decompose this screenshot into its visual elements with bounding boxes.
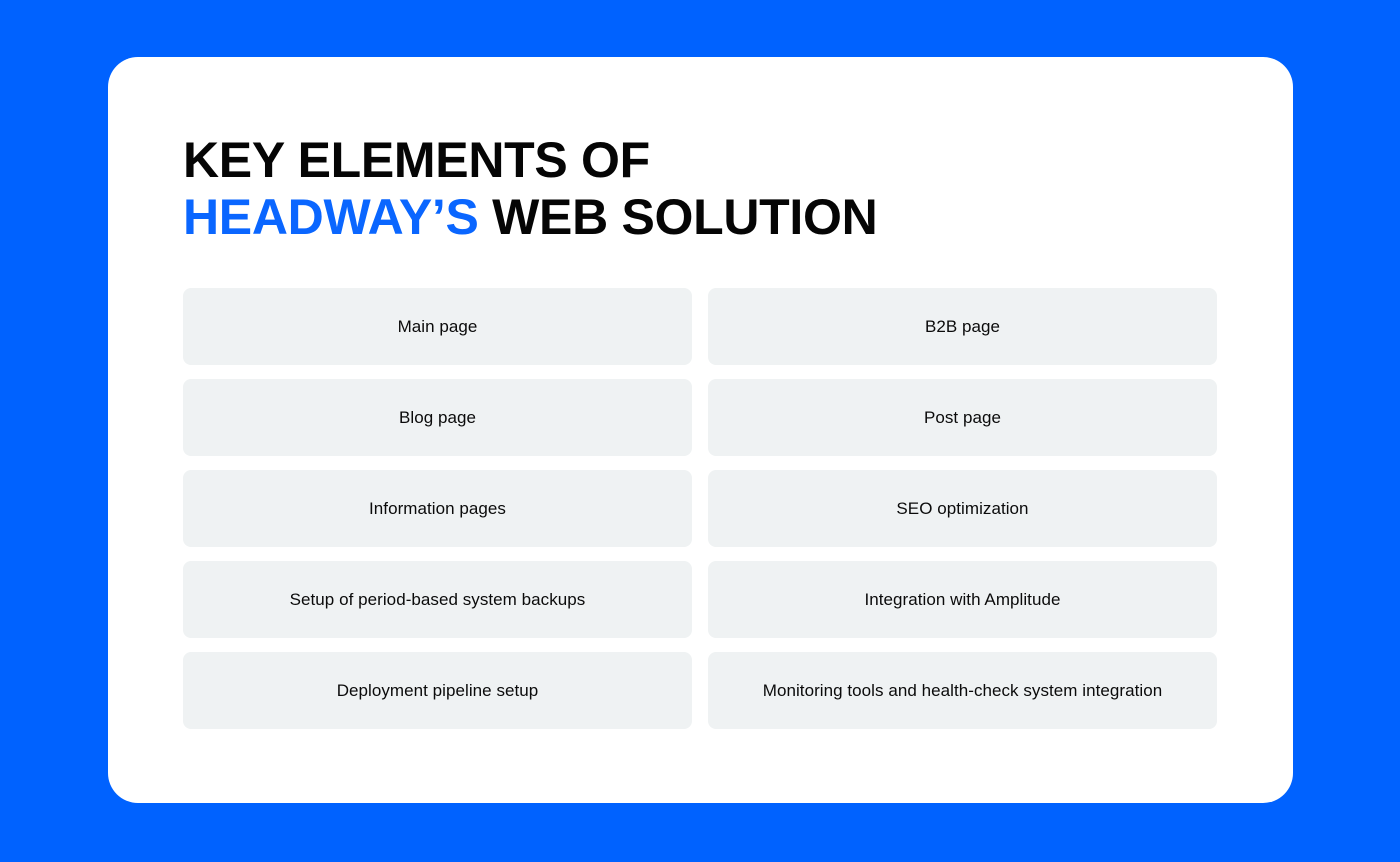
grid-item[interactable]: Integration with Amplitude <box>708 561 1217 638</box>
grid-item-label: Post page <box>924 407 1001 429</box>
grid-item-label: Blog page <box>399 407 476 429</box>
grid-item[interactable]: SEO optimization <box>708 470 1217 547</box>
page-title-line-1: KEY ELEMENTS OF <box>183 132 1218 189</box>
grid-item-label: Deployment pipeline setup <box>337 680 539 702</box>
grid-item[interactable]: B2B page <box>708 288 1217 365</box>
grid-item[interactable]: Deployment pipeline setup <box>183 652 692 729</box>
page-title-line-2-rest: WEB SOLUTION <box>479 189 878 245</box>
grid-item-label: B2B page <box>925 316 1000 338</box>
grid-item-label: Monitoring tools and health-check system… <box>763 680 1162 702</box>
grid-item[interactable]: Blog page <box>183 379 692 456</box>
grid-item-label: Information pages <box>369 498 506 520</box>
grid-item[interactable]: Main page <box>183 288 692 365</box>
elements-grid: Main page B2B page Blog page Post page I… <box>183 288 1218 729</box>
grid-item[interactable]: Post page <box>708 379 1217 456</box>
grid-item-label: Integration with Amplitude <box>865 589 1061 611</box>
panel-inner: KEY ELEMENTS OF HEADWAY’S WEB SOLUTION M… <box>183 132 1218 729</box>
content-panel: KEY ELEMENTS OF HEADWAY’S WEB SOLUTION M… <box>108 57 1293 803</box>
grid-item-label: Setup of period-based system backups <box>290 589 586 611</box>
page-title-brand: HEADWAY’S <box>183 189 479 245</box>
grid-item[interactable]: Information pages <box>183 470 692 547</box>
page-title-line-2: HEADWAY’S WEB SOLUTION <box>183 189 1218 246</box>
grid-item-label: Main page <box>398 316 478 338</box>
grid-item[interactable]: Setup of period-based system backups <box>183 561 692 638</box>
grid-item[interactable]: Monitoring tools and health-check system… <box>708 652 1217 729</box>
slide-canvas: KEY ELEMENTS OF HEADWAY’S WEB SOLUTION M… <box>0 0 1400 862</box>
page-title: KEY ELEMENTS OF HEADWAY’S WEB SOLUTION <box>183 132 1218 246</box>
grid-item-label: SEO optimization <box>896 498 1028 520</box>
